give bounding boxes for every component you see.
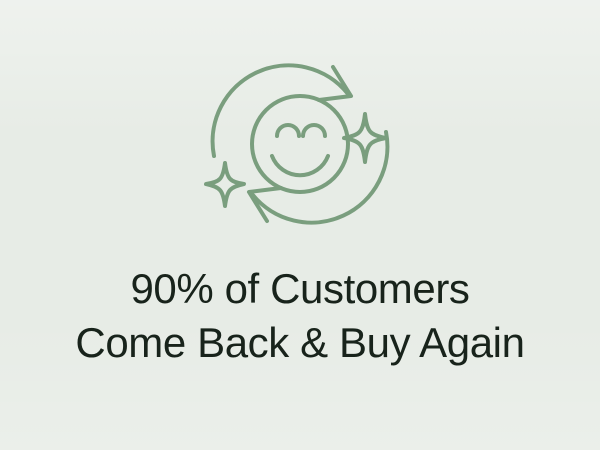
smiley-mouth	[272, 156, 328, 175]
stat-card: 90% of Customers Come Back & Buy Again	[0, 0, 600, 450]
headline-line-2: Come Back & Buy Again	[20, 316, 580, 370]
smiley-left-eye	[277, 125, 299, 136]
headline-line-1: 90% of Customers	[20, 262, 580, 316]
sparkle-small-icon	[206, 163, 244, 206]
repeat-customer-smiley-icon	[200, 52, 400, 236]
headline: 90% of Customers Come Back & Buy Again	[20, 262, 580, 370]
refresh-arc-top	[213, 65, 348, 156]
sparkle-large-icon	[344, 114, 386, 162]
smiley-face-outline	[252, 96, 348, 192]
repeat-customer-smiley-svg	[200, 52, 400, 236]
smiley-right-eye	[303, 125, 325, 136]
